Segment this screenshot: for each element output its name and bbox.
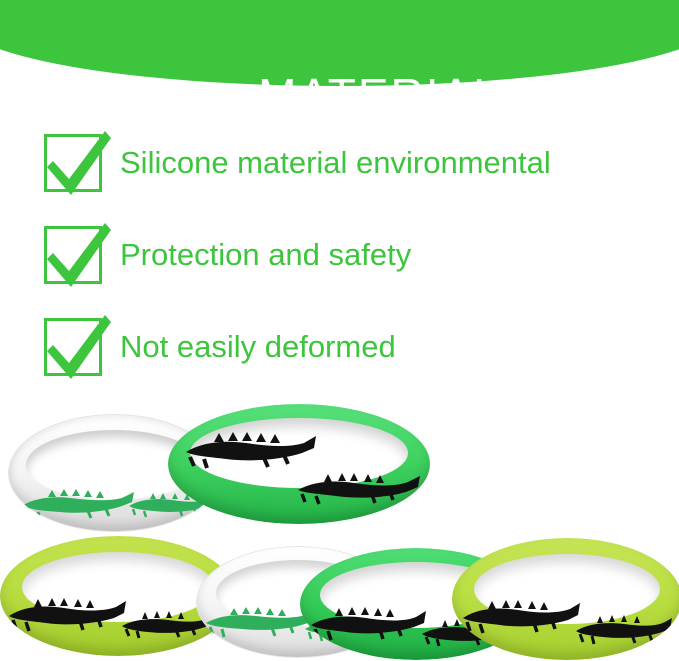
feature-item-1: Silicone material environmental xyxy=(44,128,644,198)
checkmark-icon xyxy=(41,213,115,293)
wristband-hole xyxy=(474,554,660,624)
wristband-green-top-center xyxy=(168,404,430,524)
checkbox-3 xyxy=(44,318,102,376)
wristband-lime-bottom-right xyxy=(452,538,679,660)
wristband-hole xyxy=(190,418,408,488)
feature-list: Silicone material environmental Protecti… xyxy=(44,128,644,404)
feature-label-1: Silicone material environmental xyxy=(120,145,551,181)
feature-item-2: Protection and safety xyxy=(44,220,644,290)
feature-label-2: Protection and safety xyxy=(120,237,411,273)
checkmark-icon xyxy=(41,305,115,385)
checkmark-icon xyxy=(41,121,115,201)
feature-label-3: Not easily deformed xyxy=(120,329,396,365)
feature-item-3: Not easily deformed xyxy=(44,312,644,382)
product-infographic: MATERIAL Silicone material environmental… xyxy=(0,0,679,661)
product-photo xyxy=(0,398,679,661)
page-title: MATERIAL xyxy=(0,72,679,118)
wristband-hole xyxy=(22,552,214,622)
checkbox-1 xyxy=(44,134,102,192)
checkbox-2 xyxy=(44,226,102,284)
